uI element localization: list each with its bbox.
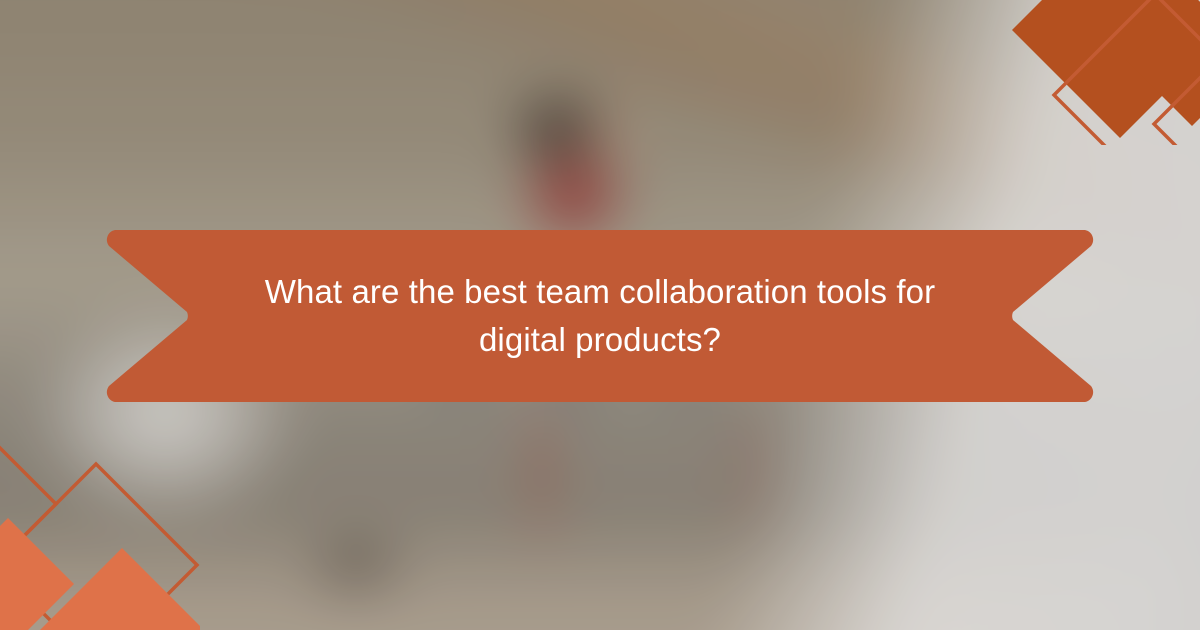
headline-line-1: What are the best team collaboration too… xyxy=(265,268,935,317)
headline-ribbon: What are the best team collaboration too… xyxy=(105,226,1095,406)
headline-text-block: What are the best team collaboration too… xyxy=(105,226,1095,406)
share-card-canvas: What are the best team collaboration too… xyxy=(0,0,1200,630)
headline-line-2: digital products? xyxy=(479,316,721,365)
